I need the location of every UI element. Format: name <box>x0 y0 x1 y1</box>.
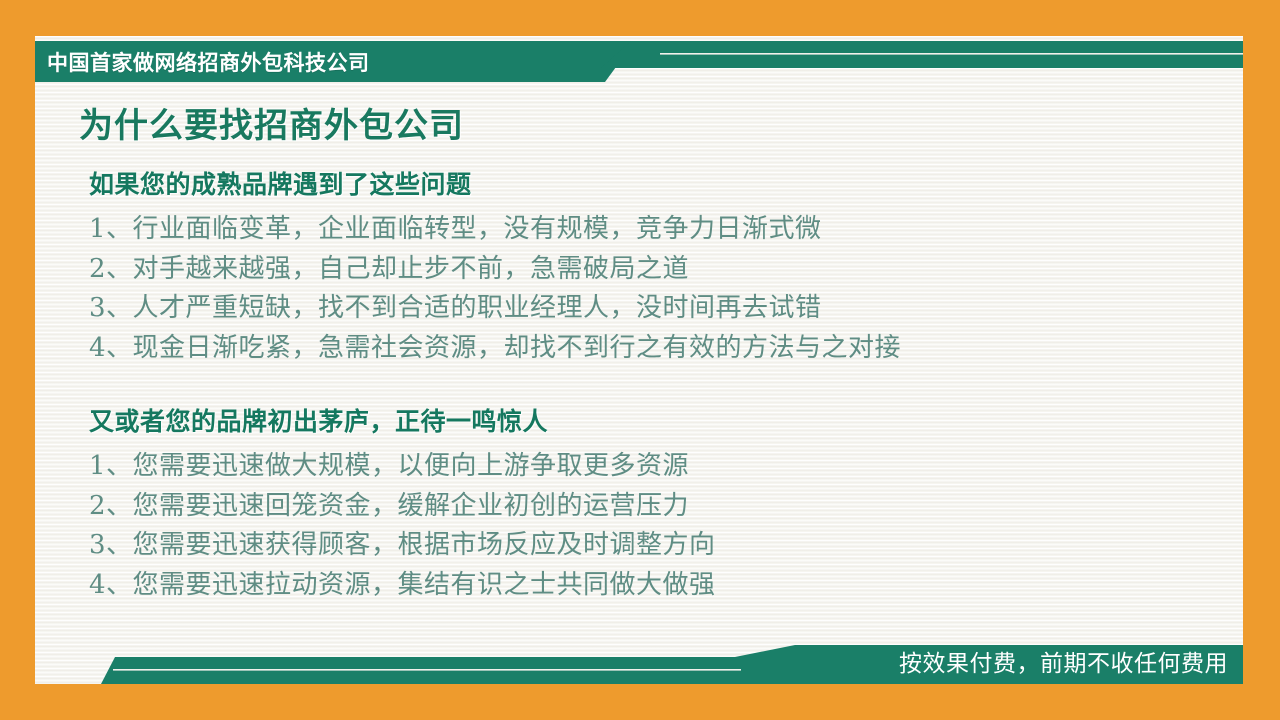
slide: 中国首家做网络招商外包科技公司 为什么要找招商外包公司 如果您的成熟品牌遇到了这… <box>0 0 1280 720</box>
list-item: 2、对手越来越强，自己却止步不前，急需破局之道 <box>89 250 1205 290</box>
footer-tagline: 按效果付费，前期不收任何费用 <box>899 643 1228 679</box>
section-spacer <box>75 372 1205 406</box>
list-item: 2、您需要迅速回笼资金，缓解企业初创的运营压力 <box>89 487 1205 527</box>
header-banner-text: 中国首家做网络招商外包科技公司 <box>47 45 370 79</box>
list-item: 3、您需要迅速获得顾客，根据市场反应及时调整方向 <box>89 526 1205 566</box>
section-mature-brand: 如果您的成熟品牌遇到了这些问题 1、行业面临变革，企业面临转型，没有规模，竞争力… <box>75 169 1205 368</box>
list-item: 1、您需要迅速做大规模，以便向上游争取更多资源 <box>89 447 1205 487</box>
list-item: 1、行业面临变革，企业面临转型，没有规模，竞争力日渐式微 <box>89 210 1205 250</box>
section-new-brand: 又或者您的品牌初出茅庐，正待一鸣惊人 1、您需要迅速做大规模，以便向上游争取更多… <box>75 406 1205 605</box>
list-item: 4、现金日渐吃紧，急需社会资源，却找不到行之有效的方法与之对接 <box>89 329 1205 369</box>
section-heading: 如果您的成熟品牌遇到了这些问题 <box>89 169 1205 200</box>
main-content: 为什么要找招商外包公司 如果您的成熟品牌遇到了这些问题 1、行业面临变革，企业面… <box>75 106 1205 609</box>
problem-list: 1、行业面临变革，企业面临转型，没有规模，竞争力日渐式微 2、对手越来越强，自己… <box>89 210 1205 368</box>
list-item: 3、人才严重短缺，找不到合适的职业经理人，没时间再去试错 <box>89 289 1205 329</box>
need-list: 1、您需要迅速做大规模，以便向上游争取更多资源 2、您需要迅速回笼资金，缓解企业… <box>89 447 1205 605</box>
page-title: 为什么要找招商外包公司 <box>79 106 1205 147</box>
list-item: 4、您需要迅速拉动资源，集结有识之士共同做大做强 <box>89 566 1205 606</box>
section-heading: 又或者您的品牌初出茅庐，正待一鸣惊人 <box>89 406 1205 437</box>
